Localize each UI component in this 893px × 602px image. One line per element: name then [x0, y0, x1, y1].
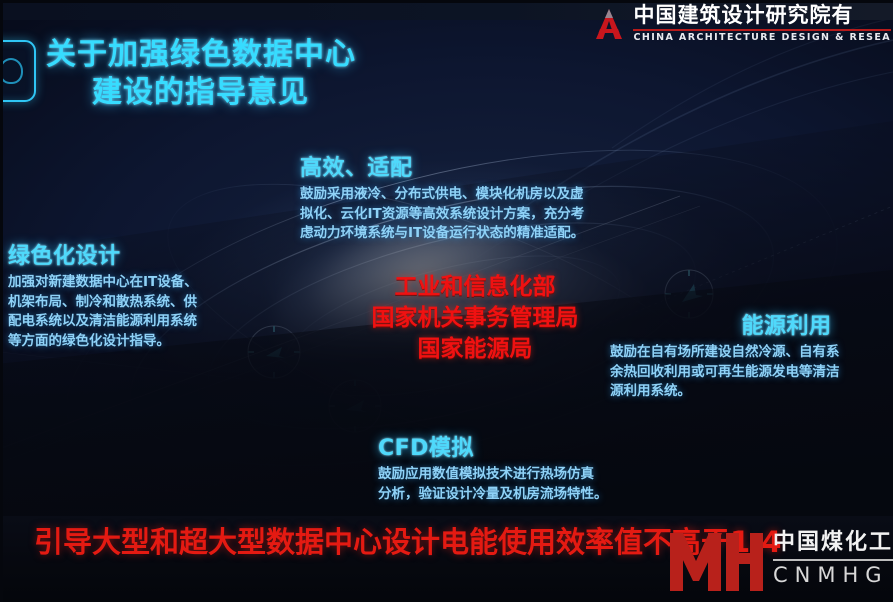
cadg-triangle-logo-icon	[592, 7, 626, 41]
issuing-organization-2: 国家机关事务管理局	[355, 303, 595, 334]
watermark-chinese-name: 中国煤化工	[773, 532, 893, 554]
issuing-organization-1: 工业和信息化部	[355, 272, 595, 303]
page-title-line1: 关于加强绿色数据中心	[46, 37, 356, 72]
watermark-divider	[773, 559, 893, 561]
callout-efficiency: 高效、适配 鼓励采用液冷、分布式供电、模块化机房以及虚 拟化、云化IT资源等高效…	[300, 150, 584, 244]
callout-energy-use-body: 鼓励在自有场所建设自然冷源、自有系 余热回收利用或可再生能源发电等清洁 源利用系…	[610, 343, 840, 402]
page-title: 关于加强绿色数据中心 建设的指导意见	[46, 36, 466, 113]
callout-efficiency-heading: 高效、适配	[300, 150, 584, 182]
callout-green-design: 绿色化设计 加强对新建数据中心在IT设备、 机架布局、制冷和散热系统、供 配电系…	[8, 238, 198, 351]
page-title-line2: 建设的指导意见	[46, 74, 466, 112]
callout-cfd-simulation-line-1: 鼓励应用数值模拟技术进行热场仿真	[378, 465, 608, 485]
callout-energy-use-line-2: 余热回收利用或可再生能源发电等清洁	[610, 363, 840, 383]
callout-green-design-line-2: 机架布局、制冷和散热系统、供	[8, 293, 198, 313]
slide-edge-top	[0, 0, 893, 3]
logo-english-name: CHINA ARCHITECTURE DESIGN & RESEA	[633, 33, 891, 43]
callout-green-design-line-4: 等方面的绿色化设计指导。	[8, 332, 198, 352]
watermark: 中国煤化工 CNMHG	[668, 523, 893, 595]
callout-efficiency-line-1: 鼓励采用液冷、分布式供电、模块化机房以及虚	[300, 185, 584, 205]
callout-energy-use-line-3: 源利用系统。	[610, 382, 840, 402]
callout-green-design-line-3: 配电系统以及清洁能源利用系统	[8, 312, 198, 332]
callout-cfd-simulation-body: 鼓励应用数值模拟技术进行热场仿真 分析，验证设计冷量及机房流场特性。	[378, 465, 608, 504]
presentation-slide: 中国建筑设计研究院有 CHINA ARCHITECTURE DESIGN & R…	[0, 0, 893, 602]
company-logo: 中国建筑设计研究院有 CHINA ARCHITECTURE DESIGN & R…	[592, 2, 893, 46]
callout-efficiency-line-2: 拟化、云化IT资源等高效系统设计方案，充分考	[300, 205, 584, 225]
myh-monogram-icon	[668, 523, 764, 595]
callout-cfd-simulation: CFD模拟 鼓励应用数值模拟技术进行热场仿真 分析，验证设计冷量及机房流场特性。	[378, 430, 608, 504]
leaf-badge-icon	[0, 40, 36, 102]
callout-efficiency-body: 鼓励采用液冷、分布式供电、模块化机房以及虚 拟化、云化IT资源等高效系统设计方案…	[300, 185, 584, 244]
callout-green-design-line-1: 加强对新建数据中心在IT设备、	[8, 273, 198, 293]
watermark-english-name: CNMHG	[773, 565, 893, 586]
slide-edge-left	[0, 0, 3, 602]
callout-energy-use: 能源利用 鼓励在自有场所建设自然冷源、自有系 余热回收利用或可再生能源发电等清洁…	[610, 308, 840, 402]
callout-energy-use-line-1: 鼓励在自有场所建设自然冷源、自有系	[610, 343, 840, 363]
issuing-organizations: 工业和信息化部 国家机关事务管理局 国家能源局	[355, 272, 595, 364]
issuing-organization-3: 国家能源局	[355, 334, 595, 365]
callout-cfd-simulation-line-2: 分析，验证设计冷量及机房流场特性。	[378, 485, 608, 505]
callout-cfd-simulation-heading: CFD模拟	[378, 430, 608, 462]
logo-chinese-name: 中国建筑设计研究院有	[633, 5, 891, 26]
callout-green-design-body: 加强对新建数据中心在IT设备、 机架布局、制冷和散热系统、供 配电系统以及清洁能…	[8, 273, 198, 351]
callout-green-design-heading: 绿色化设计	[8, 238, 198, 270]
callout-efficiency-line-3: 虑动力环境系统与IT设备运行状态的精准适配。	[300, 224, 584, 244]
logo-divider	[633, 29, 891, 31]
callout-energy-use-heading: 能源利用	[610, 308, 840, 340]
